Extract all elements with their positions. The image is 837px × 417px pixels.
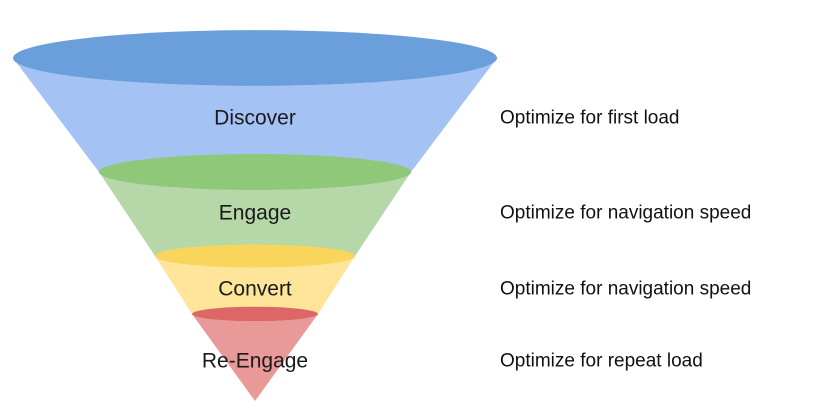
funnel-segment-cap-discover [13, 30, 497, 86]
annotation-discover: Optimize for first load [500, 109, 680, 128]
funnel-segments [13, 30, 497, 401]
funnel-diagram-canvas: Discover Engage Convert Re-Engage Optimi… [0, 0, 837, 417]
funnel-segment-body-re-engage [192, 314, 318, 401]
funnel-segment-cap-convert [155, 245, 355, 268]
annotation-re-engage: Optimize for repeat load [500, 352, 703, 371]
funnel-segment-cap-engage [99, 154, 411, 190]
annotation-engage: Optimize for navigation speed [500, 204, 751, 223]
annotation-convert: Optimize for navigation speed [500, 280, 751, 299]
funnel-segment-cap-re-engage [192, 307, 318, 321]
